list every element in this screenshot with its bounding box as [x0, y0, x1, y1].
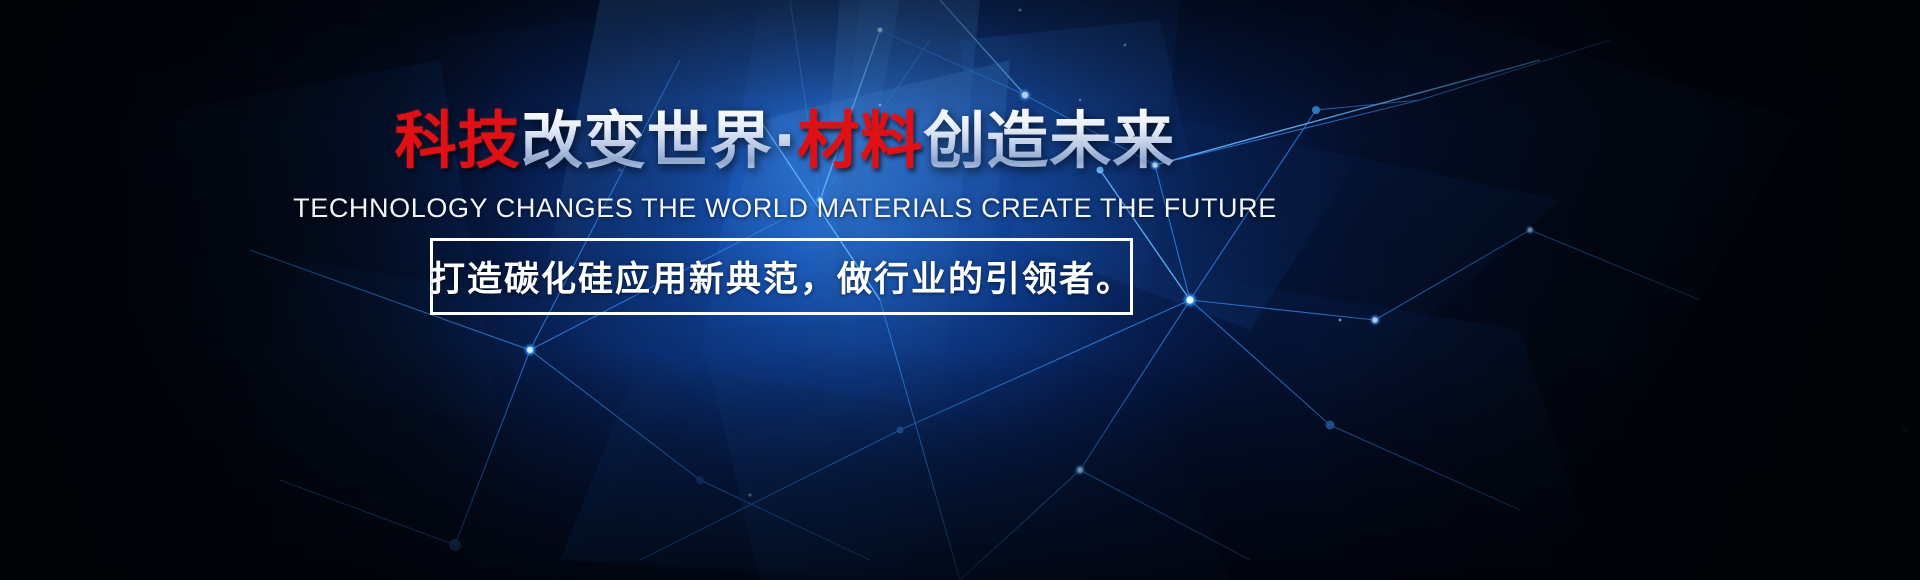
- slogan-box: 打造碳化硅应用新典范，做行业的引领者。: [430, 238, 1133, 315]
- banner-content: 科技改变世界·材料创造未来 TECHNOLOGY CHANGES THE WOR…: [0, 0, 1920, 580]
- headline: 科技改变世界·材料创造未来: [0, 110, 1570, 172]
- headline-segment-3: 材料: [797, 104, 923, 177]
- headline-segment-4: 创造未来: [923, 104, 1175, 177]
- headline-segment-2: 改变世界·: [521, 104, 798, 177]
- hero-banner: 科技改变世界·材料创造未来 TECHNOLOGY CHANGES THE WOR…: [0, 0, 1920, 580]
- headline-segment-1: 科技: [395, 104, 521, 177]
- subtitle: TECHNOLOGY CHANGES THE WORLD MATERIALS C…: [0, 193, 1570, 224]
- slogan-text: 打造碳化硅应用新典范，做行业的引领者。: [430, 251, 1133, 302]
